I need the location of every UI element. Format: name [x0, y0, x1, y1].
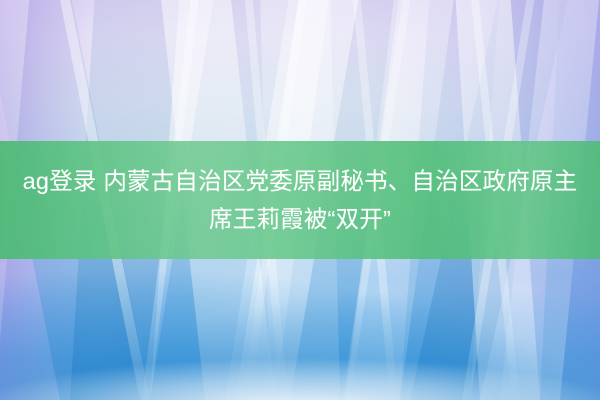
headline-band: ag登录 内蒙古自治区党委原副秘书、自治区政府原主席王莉霞被“双开”: [0, 141, 600, 259]
headline-text: ag登录 内蒙古自治区党委原副秘书、自治区政府原主席王莉霞被“双开”: [20, 162, 580, 238]
headline-band-inner: ag登录 内蒙古自治区党委原副秘书、自治区政府原主席王莉霞被“双开”: [20, 162, 580, 238]
banner-image: ag登录 内蒙古自治区党委原副秘书、自治区政府原主席王莉霞被“双开”: [0, 0, 600, 400]
